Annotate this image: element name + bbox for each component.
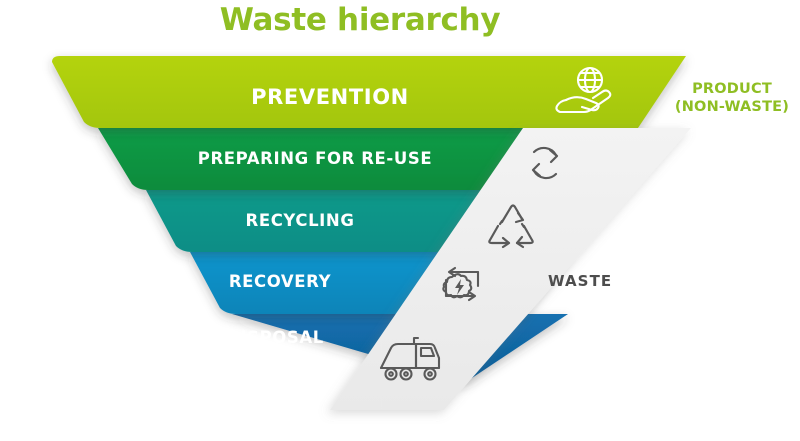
product-non-waste-label: PRODUCT (NON-WASTE) bbox=[666, 80, 798, 116]
funnel-graphic bbox=[0, 0, 800, 441]
product-label-line1: PRODUCT bbox=[666, 80, 798, 98]
waste-label: WASTE bbox=[548, 272, 612, 290]
product-label-line2: (NON-WASTE) bbox=[666, 98, 798, 116]
waste-hierarchy-diagram: Waste hierarchy bbox=[0, 0, 800, 441]
